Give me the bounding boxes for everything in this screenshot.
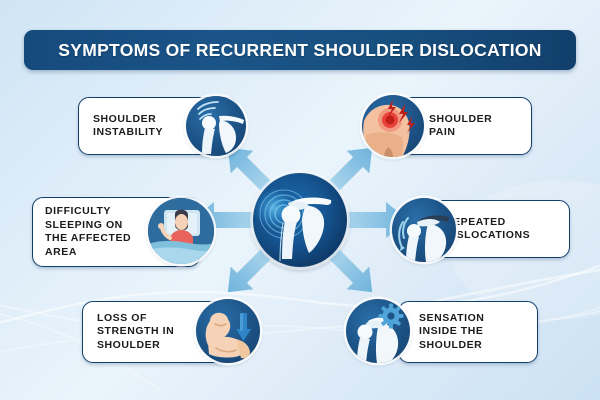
shoulder-joint-vibration-icon [186,96,246,156]
symptom-label-sensation: SENSATION INSIDE THE SHOULDER [419,312,484,353]
dislocated-shoulder-icon [392,198,456,262]
flexed-bicep-down-arrow-icon [196,299,260,363]
infographic-canvas: SYMPTOMS OF RECURRENT SHOULDER DISLOCATI… [0,0,600,400]
symptom-label-instability: SHOULDER INSTABILITY [93,113,163,140]
symptom-label-repeated: REPEATED DISLOCATIONS [445,216,530,243]
page-title-bar: SYMPTOMS OF RECURRENT SHOULDER DISLOCATI… [24,30,576,70]
page-title: SYMPTOMS OF RECURRENT SHOULDER DISLOCATI… [58,40,542,61]
symptom-card-sensation[interactable]: SENSATION INSIDE THE SHOULDER [398,301,538,363]
symptom-label-strength: LOSS OF STRENGTH IN SHOULDER [97,312,174,353]
symptom-label-sleep: DIFFICULTY SLEEPING ON THE AFFECTED AREA [45,205,131,259]
person-in-bed-icon [148,198,214,264]
shoulder-gear-icon [346,299,410,363]
symptom-label-pain: SHOULDER PAIN [429,113,492,140]
center-hub [253,173,347,267]
shoulder-pain-flash-icon [362,95,424,157]
shoulder-anatomy-icon [253,173,347,267]
